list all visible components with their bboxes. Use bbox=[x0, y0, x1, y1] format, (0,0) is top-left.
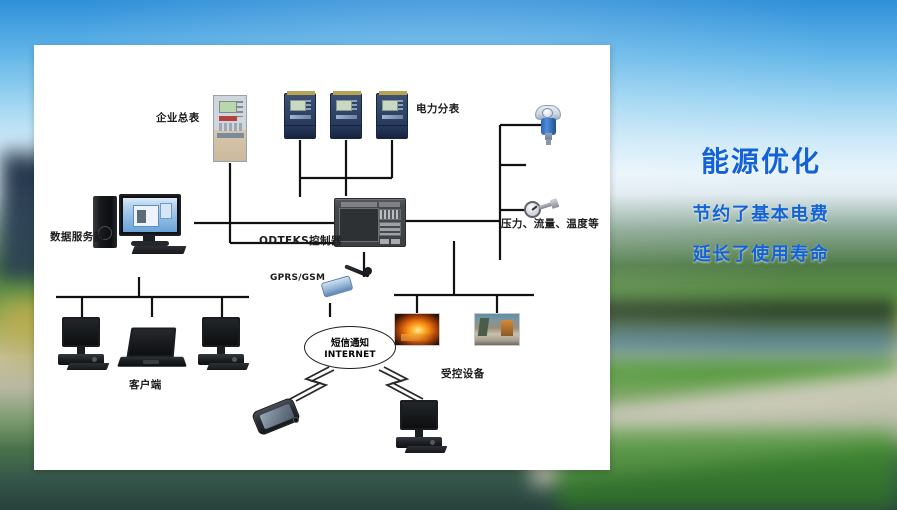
sensors-label: 压力、流量、温度等 bbox=[501, 218, 599, 230]
controller-label-plate bbox=[341, 202, 377, 207]
power-submeter-device bbox=[330, 93, 362, 139]
modem-body bbox=[321, 275, 354, 298]
mobile-phone-device bbox=[252, 400, 302, 440]
submeter-base bbox=[286, 127, 314, 138]
submeter-terminal bbox=[333, 91, 361, 95]
laptop-touchpad bbox=[143, 360, 159, 364]
slide-canvas: 短信通知 INTERNET 企业总表 电力分表 ODTEKS控制器 数据服务器 … bbox=[0, 0, 897, 510]
remote-keyboard bbox=[405, 446, 448, 453]
diagram-card: 短信通知 INTERNET 企业总表 电力分表 ODTEKS控制器 数据服务器 … bbox=[34, 45, 610, 470]
power-submeter-device bbox=[376, 93, 408, 139]
odteks-controller-device bbox=[334, 198, 406, 247]
gauge-cap bbox=[550, 198, 559, 209]
phone-camera bbox=[293, 417, 299, 423]
controller-buttons bbox=[380, 239, 400, 244]
internet-label-cn: 短信通知 bbox=[331, 335, 369, 349]
meter-keys bbox=[219, 123, 243, 131]
submeter-leds bbox=[352, 100, 357, 111]
wireless-link-arrows bbox=[290, 367, 423, 401]
client-monitor bbox=[202, 317, 240, 347]
server-monitor bbox=[119, 194, 181, 236]
controller-terminal-strip bbox=[379, 209, 401, 220]
data-server-device bbox=[89, 190, 197, 256]
client-keyboard bbox=[67, 363, 110, 370]
enterprise-meter-device bbox=[213, 95, 247, 162]
submeter-seam bbox=[331, 125, 361, 126]
submeter-base bbox=[332, 127, 360, 138]
pressure-transmitter-device bbox=[534, 105, 564, 145]
transmitter-dial bbox=[542, 108, 553, 118]
client-desktop-device bbox=[194, 317, 250, 373]
server-screen bbox=[123, 198, 177, 232]
laptop-screen bbox=[126, 327, 176, 357]
submeter-lcd bbox=[290, 100, 306, 111]
meter-band bbox=[219, 116, 237, 121]
submeter-leds bbox=[398, 100, 403, 111]
controlled-equipment-label: 受控设备 bbox=[441, 368, 485, 380]
client-keyboard bbox=[207, 363, 250, 370]
controller-display bbox=[339, 208, 379, 242]
submeter-keypad bbox=[336, 115, 357, 119]
headline-block: 能源优化 节约了基本电费 延长了使用寿命 bbox=[625, 140, 897, 266]
controller-label-plate-right bbox=[379, 202, 400, 207]
submeter-terminal bbox=[287, 91, 315, 95]
machine-photo bbox=[474, 313, 520, 346]
headline-title: 能源优化 bbox=[625, 140, 897, 180]
subline-2: 延长了使用寿命 bbox=[625, 240, 897, 266]
diagram-connectors bbox=[34, 45, 610, 470]
meter-strip bbox=[217, 133, 244, 138]
data-server-label: 数据服务器 bbox=[50, 231, 105, 243]
controller-label: ODTEKS控制器 bbox=[259, 235, 342, 247]
internet-label-en: INTERNET bbox=[324, 350, 376, 360]
modem-antenna-tip bbox=[364, 267, 372, 275]
power-submeter-label: 电力分表 bbox=[416, 103, 460, 115]
submeter-seam bbox=[285, 125, 315, 126]
power-submeter-device bbox=[284, 93, 316, 139]
submeter-lcd bbox=[382, 100, 398, 111]
controller-keypad bbox=[379, 222, 401, 236]
remote-desktop-device bbox=[392, 400, 448, 456]
server-app-window bbox=[133, 205, 159, 227]
subline-1: 节约了基本电费 bbox=[625, 200, 897, 226]
client-laptop-device bbox=[119, 327, 185, 373]
topology-diagram: 短信通知 INTERNET 企业总表 电力分表 ODTEKS控制器 数据服务器 … bbox=[34, 45, 610, 470]
submeter-lcd bbox=[336, 100, 352, 111]
submeter-keypad bbox=[290, 115, 311, 119]
submeter-keypad bbox=[382, 115, 403, 119]
submeter-base bbox=[378, 127, 406, 138]
submeter-terminal bbox=[379, 91, 407, 95]
transmitter-tip bbox=[546, 139, 551, 145]
server-app-panel bbox=[160, 203, 172, 219]
submeter-seam bbox=[377, 125, 407, 126]
gprs-gsm-label: GPRS/GSM bbox=[270, 273, 325, 283]
remote-monitor bbox=[400, 400, 438, 430]
client-desktop-device bbox=[54, 317, 110, 373]
submeter-leds bbox=[306, 100, 311, 111]
furnace-photo bbox=[394, 313, 440, 346]
meter-lcd bbox=[219, 101, 237, 113]
meter-leds bbox=[237, 101, 243, 117]
client-monitor bbox=[62, 317, 100, 347]
gprs-modem-device bbox=[322, 267, 372, 299]
client-label: 客户端 bbox=[129, 379, 162, 391]
server-keyboard bbox=[132, 246, 187, 254]
internet-ellipse: 短信通知 INTERNET bbox=[304, 326, 396, 369]
enterprise-meter-label: 企业总表 bbox=[156, 112, 200, 124]
